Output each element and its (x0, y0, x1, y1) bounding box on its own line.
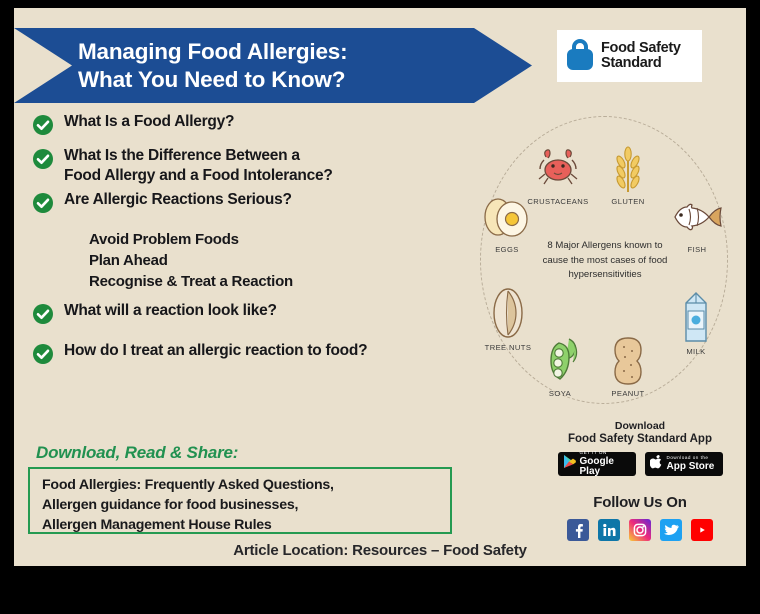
checklist-item-3[interactable]: Are Allergic Reactions Serious? (32, 190, 502, 219)
checklist-subitem-2: Plan Ahead (89, 252, 502, 269)
youtube-icon[interactable] (691, 519, 713, 541)
allergen-label: SOYA (525, 389, 595, 398)
check-circle-icon (32, 343, 54, 370)
checklist-item-1[interactable]: What Is a Food Allergy? (32, 112, 502, 141)
app-download-section: Download Food Safety Standard App GET IT… (534, 420, 746, 476)
twitter-icon[interactable] (660, 519, 682, 541)
app-download-heading-1: Download (534, 420, 746, 432)
app-store-text: Download on the App Store (667, 456, 715, 472)
allergen-label: TREE NUTS (473, 343, 543, 352)
instagram-icon[interactable] (629, 519, 651, 541)
facebook-icon[interactable] (567, 519, 589, 541)
logo-line-2: Standard (601, 55, 661, 71)
title-line-1: Managing Food Allergies: (78, 38, 532, 65)
crab-icon (523, 142, 593, 196)
checklist-subitem-3: Recognise & Treat a Reaction (89, 273, 502, 290)
google-play-badge[interactable]: GET IT ON Google Play (558, 452, 636, 476)
allergen-wheel: CRUSTACEANS GLUTEN (480, 116, 728, 404)
checklist-item-5[interactable]: How do I treat an allergic reaction to f… (32, 341, 502, 370)
checklist: What Is a Food Allergy? What Is the Diff… (32, 112, 502, 375)
allergen-peanut: PEANUT (593, 334, 663, 398)
drs-line-3: Allergen Management House Rules (42, 515, 450, 535)
spacer (32, 224, 502, 231)
app-store-badge[interactable]: Download on the App Store (645, 452, 723, 476)
social-icons (534, 519, 746, 541)
drs-line-1: Food Allergies: Frequently Asked Questio… (42, 475, 450, 495)
spacer (32, 294, 502, 301)
app-download-heading-2: Food Safety Standard App (534, 433, 746, 445)
wheat-icon (593, 142, 663, 196)
drs-line-2: Allergen guidance for food businesses, (42, 495, 450, 515)
logo-line-1: Food Safety (601, 40, 681, 56)
check-circle-icon (32, 303, 54, 330)
center-note-text: 8 Major Allergens known to cause the mos… (538, 239, 672, 282)
linkedin-icon[interactable] (598, 519, 620, 541)
follow-us-title: Follow Us On (534, 494, 746, 511)
checklist-item-label: Are Allergic Reactions Serious? (64, 190, 292, 210)
download-read-share-box[interactable]: Food Allergies: Frequently Asked Questio… (28, 467, 452, 534)
logo-text: Food Safety Standard (601, 41, 681, 72)
check-circle-icon (32, 114, 54, 141)
allergen-label: GLUTEN (593, 197, 663, 206)
checklist-item-label: What Is a Food Allergy? (64, 112, 234, 132)
allergen-gluten: GLUTEN (593, 142, 663, 206)
checklist-subitem-1: Avoid Problem Foods (89, 231, 502, 248)
check-circle-icon (32, 192, 54, 219)
title-line-2: What You Need to Know? (78, 66, 532, 93)
checklist-item-2[interactable]: What Is the Difference Between a Food Al… (32, 146, 502, 185)
google-play-icon (563, 454, 576, 474)
store-badges: GET IT ON Google Play Download on the Ap… (534, 452, 746, 476)
checklist-item-label: What will a reaction look like? (64, 301, 277, 321)
apple-icon (650, 454, 663, 474)
check-circle-icon (32, 148, 54, 175)
padlock-icon (565, 37, 595, 76)
google-play-text: GET IT ON Google Play (580, 451, 631, 477)
allergen-label: MILK (661, 347, 731, 356)
badge-big-text: App Store (667, 462, 715, 472)
download-read-share-title: Download, Read & Share: (36, 443, 238, 463)
food-safety-standard-logo: Food Safety Standard (557, 30, 702, 82)
allergen-center-note: 8 Major Allergens known to cause the mos… (532, 220, 678, 302)
badge-big-text: Google Play (580, 457, 631, 477)
checklist-item-label: How do I treat an allergic reaction to f… (64, 341, 367, 361)
checklist-item-4[interactable]: What will a reaction look like? (32, 301, 502, 330)
social-section: Follow Us On (534, 494, 746, 541)
article-location: Article Location: Resources – Food Safet… (14, 542, 746, 559)
title-banner: Managing Food Allergies: What You Need t… (14, 28, 532, 103)
infographic-canvas: Managing Food Allergies: What You Need t… (14, 8, 746, 566)
allergen-label: PEANUT (593, 389, 663, 398)
checklist-item-label: What Is the Difference Between a Food Al… (64, 146, 333, 185)
peanut-icon (593, 334, 663, 388)
